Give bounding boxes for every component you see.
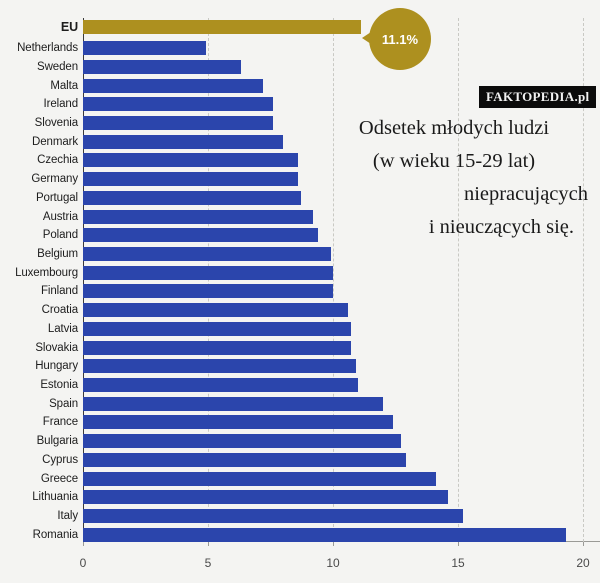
category-label-netherlands: Netherlands <box>17 42 78 54</box>
bar-row: Cyprus <box>83 453 583 467</box>
category-label-denmark: Denmark <box>32 136 78 148</box>
tick-mark-5 <box>208 542 209 546</box>
category-label-hungary: Hungary <box>35 360 78 372</box>
bar-sweden <box>83 60 241 74</box>
bar-row: Lithuania <box>83 490 583 504</box>
bar-ireland <box>83 97 273 111</box>
bar-row: Estonia <box>83 378 583 392</box>
headline-line-4: i nieuczących się. <box>312 211 596 244</box>
bar-cyprus <box>83 453 406 467</box>
category-label-france: France <box>43 416 78 428</box>
bar-slovenia <box>83 116 273 130</box>
bar-denmark <box>83 135 283 149</box>
tick-mark-15 <box>458 542 459 546</box>
bar-austria <box>83 210 313 224</box>
bar-lithuania <box>83 490 448 504</box>
category-label-luxembourg: Luxembourg <box>15 267 78 279</box>
tick-mark-10 <box>333 542 334 546</box>
bar-row: Croatia <box>83 303 583 317</box>
bar-row: Italy <box>83 509 583 523</box>
category-label-cyprus: Cyprus <box>42 454 78 466</box>
x-tick-label-5: 5 <box>205 556 212 570</box>
bar-row: Bulgaria <box>83 434 583 448</box>
bar-estonia <box>83 378 358 392</box>
category-label-slovakia: Slovakia <box>35 342 78 354</box>
category-label-eu: EU <box>61 20 78 34</box>
tick-mark-0 <box>83 542 84 546</box>
bar-belgium <box>83 247 331 261</box>
x-tick-label-20: 20 <box>576 556 589 570</box>
bar-row: Greece <box>83 472 583 486</box>
bar-row: Hungary <box>83 359 583 373</box>
watermark-label: FAKTOPEDIA.pl <box>486 89 589 104</box>
chart-root: EUNetherlandsSwedenMaltaIrelandSloveniaD… <box>0 0 600 583</box>
category-label-croatia: Croatia <box>42 304 78 316</box>
eu-value-badge: 11.1% <box>369 8 431 70</box>
bar-romania <box>83 528 566 542</box>
category-label-bulgaria: Bulgaria <box>37 435 78 447</box>
bar-row: Belgium <box>83 247 583 261</box>
category-label-spain: Spain <box>49 398 78 410</box>
category-label-poland: Poland <box>43 229 78 241</box>
bar-row: Luxembourg <box>83 266 583 280</box>
bar-hungary <box>83 359 356 373</box>
eu-value-label: 11.1% <box>382 32 418 47</box>
category-label-finland: Finland <box>41 285 78 297</box>
category-label-italy: Italy <box>57 510 78 522</box>
bar-row: Latvia <box>83 322 583 336</box>
bar-row: Sweden <box>83 60 583 74</box>
category-label-latvia: Latvia <box>48 323 78 335</box>
headline-line-1: Odsetek młodych ludzi <box>312 112 596 145</box>
category-label-romania: Romania <box>33 529 78 541</box>
category-label-greece: Greece <box>41 473 78 485</box>
watermark-faktopedia: FAKTOPEDIA.pl <box>479 86 596 108</box>
category-label-malta: Malta <box>50 80 78 92</box>
bar-czechia <box>83 153 298 167</box>
bar-row: EU <box>83 20 583 34</box>
bar-poland <box>83 228 318 242</box>
bar-row: France <box>83 415 583 429</box>
category-label-austria: Austria <box>43 211 78 223</box>
bar-germany <box>83 172 298 186</box>
category-label-sweden: Sweden <box>37 61 78 73</box>
x-tick-label-0: 0 <box>80 556 87 570</box>
headline-line-2: (w wieku 15-29 lat) <box>312 145 596 178</box>
bar-italy <box>83 509 463 523</box>
bar-spain <box>83 397 383 411</box>
bar-row: Netherlands <box>83 41 583 55</box>
headline: Odsetek młodych ludzi (w wieku 15-29 lat… <box>312 112 596 244</box>
headline-line-3: niepracujących <box>312 178 596 211</box>
x-tick-label-15: 15 <box>451 556 464 570</box>
category-label-belgium: Belgium <box>37 248 78 260</box>
category-label-portugal: Portugal <box>36 192 78 204</box>
bar-croatia <box>83 303 348 317</box>
bar-france <box>83 415 393 429</box>
bar-netherlands <box>83 41 206 55</box>
category-label-ireland: Ireland <box>44 98 78 110</box>
bar-eu <box>83 20 361 34</box>
tick-mark-20 <box>583 542 584 546</box>
bar-row: Finland <box>83 284 583 298</box>
bar-row: Spain <box>83 397 583 411</box>
bar-bulgaria <box>83 434 401 448</box>
bar-portugal <box>83 191 301 205</box>
category-label-estonia: Estonia <box>40 379 78 391</box>
bar-greece <box>83 472 436 486</box>
category-label-slovenia: Slovenia <box>35 117 78 129</box>
bar-luxembourg <box>83 266 333 280</box>
bar-latvia <box>83 322 351 336</box>
bar-finland <box>83 284 333 298</box>
bar-malta <box>83 79 263 93</box>
x-tick-label-10: 10 <box>326 556 339 570</box>
category-label-lithuania: Lithuania <box>32 491 78 503</box>
category-label-germany: Germany <box>31 173 78 185</box>
category-label-czechia: Czechia <box>37 154 78 166</box>
bar-slovakia <box>83 341 351 355</box>
bar-row: Romania <box>83 528 583 542</box>
bar-row: Slovakia <box>83 341 583 355</box>
